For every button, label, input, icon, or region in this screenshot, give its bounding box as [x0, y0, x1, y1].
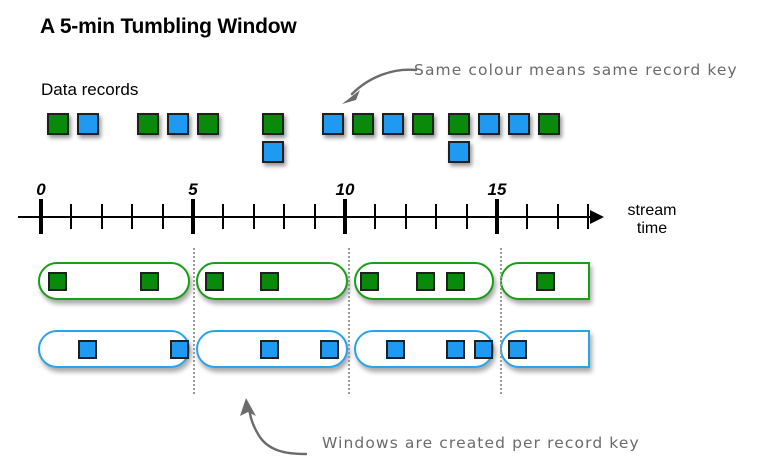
axis-arrowhead-icon — [590, 210, 604, 224]
axis-tick-minor — [70, 204, 72, 229]
data-record-blue — [508, 113, 530, 135]
window-record-blue — [508, 340, 527, 359]
diagram-canvas: A 5-min Tumbling Window Data records Sam… — [0, 0, 762, 476]
axis-tick-minor — [557, 204, 559, 229]
window-record-blue — [260, 340, 279, 359]
window-record-blue — [474, 340, 493, 359]
data-record-green — [197, 113, 219, 135]
axis-tick-minor — [314, 204, 316, 229]
window-record-blue — [78, 340, 97, 359]
axis-title-line2: time — [612, 220, 692, 238]
axis-tick-minor — [253, 204, 255, 229]
window-blue-1 — [38, 330, 190, 368]
axis-tick-label: 10 — [336, 180, 355, 200]
window-record-blue — [170, 340, 189, 359]
axis-tick-minor — [283, 204, 285, 229]
data-record-blue — [322, 113, 344, 135]
bottom-annotation-arrow — [232, 398, 310, 460]
window-separator — [193, 248, 195, 394]
window-separator — [500, 248, 502, 394]
data-record-blue — [262, 141, 284, 163]
axis-tick-minor — [435, 204, 437, 229]
axis-tick-minor — [466, 204, 468, 229]
axis-tick-minor — [101, 204, 103, 229]
data-record-green — [412, 113, 434, 135]
window-record-green — [446, 272, 465, 291]
window-record-green — [140, 272, 159, 291]
axis-tick-label: 5 — [188, 180, 197, 200]
axis-tick-major — [191, 199, 195, 234]
axis-tick-minor — [162, 204, 164, 229]
annotation-same-colour: Same colour means same record key — [414, 61, 738, 79]
data-record-green — [262, 113, 284, 135]
window-record-green — [416, 272, 435, 291]
window-record-green — [48, 272, 67, 291]
axis-tick-minor — [222, 204, 224, 229]
window-record-green — [260, 272, 279, 291]
data-record-blue — [167, 113, 189, 135]
axis-tick-minor — [526, 204, 528, 229]
data-record-green — [47, 113, 69, 135]
window-record-blue — [320, 340, 339, 359]
data-record-green — [137, 113, 159, 135]
axis-title: stream time — [612, 202, 692, 238]
axis-tick-minor — [131, 204, 133, 229]
data-record-green — [538, 113, 560, 135]
window-blue-3 — [354, 330, 494, 368]
data-record-blue — [77, 113, 99, 135]
window-record-blue — [446, 340, 465, 359]
data-record-green — [352, 113, 374, 135]
window-record-blue — [386, 340, 405, 359]
data-record-green — [448, 113, 470, 135]
axis-title-line1: stream — [612, 202, 692, 220]
data-record-blue — [478, 113, 500, 135]
axis-tick-major — [495, 199, 499, 234]
axis-tick-label: 15 — [488, 180, 507, 200]
window-record-green — [536, 272, 555, 291]
axis-tick-major — [343, 199, 347, 234]
window-record-green — [205, 272, 224, 291]
annotation-windows-per-key: Windows are created per record key — [322, 434, 640, 452]
data-record-blue — [448, 141, 470, 163]
axis-tick-minor — [405, 204, 407, 229]
data-records-label: Data records — [41, 80, 138, 100]
axis-tick-minor — [374, 204, 376, 229]
axis-tick-label: 0 — [36, 180, 45, 200]
data-record-blue — [382, 113, 404, 135]
axis-line — [18, 216, 596, 218]
axis-tick-minor — [587, 204, 589, 229]
window-separator — [348, 248, 350, 394]
page-title: A 5-min Tumbling Window — [40, 15, 297, 39]
top-annotation-arrow — [334, 64, 420, 108]
axis-tick-major — [39, 199, 43, 234]
window-record-green — [360, 272, 379, 291]
